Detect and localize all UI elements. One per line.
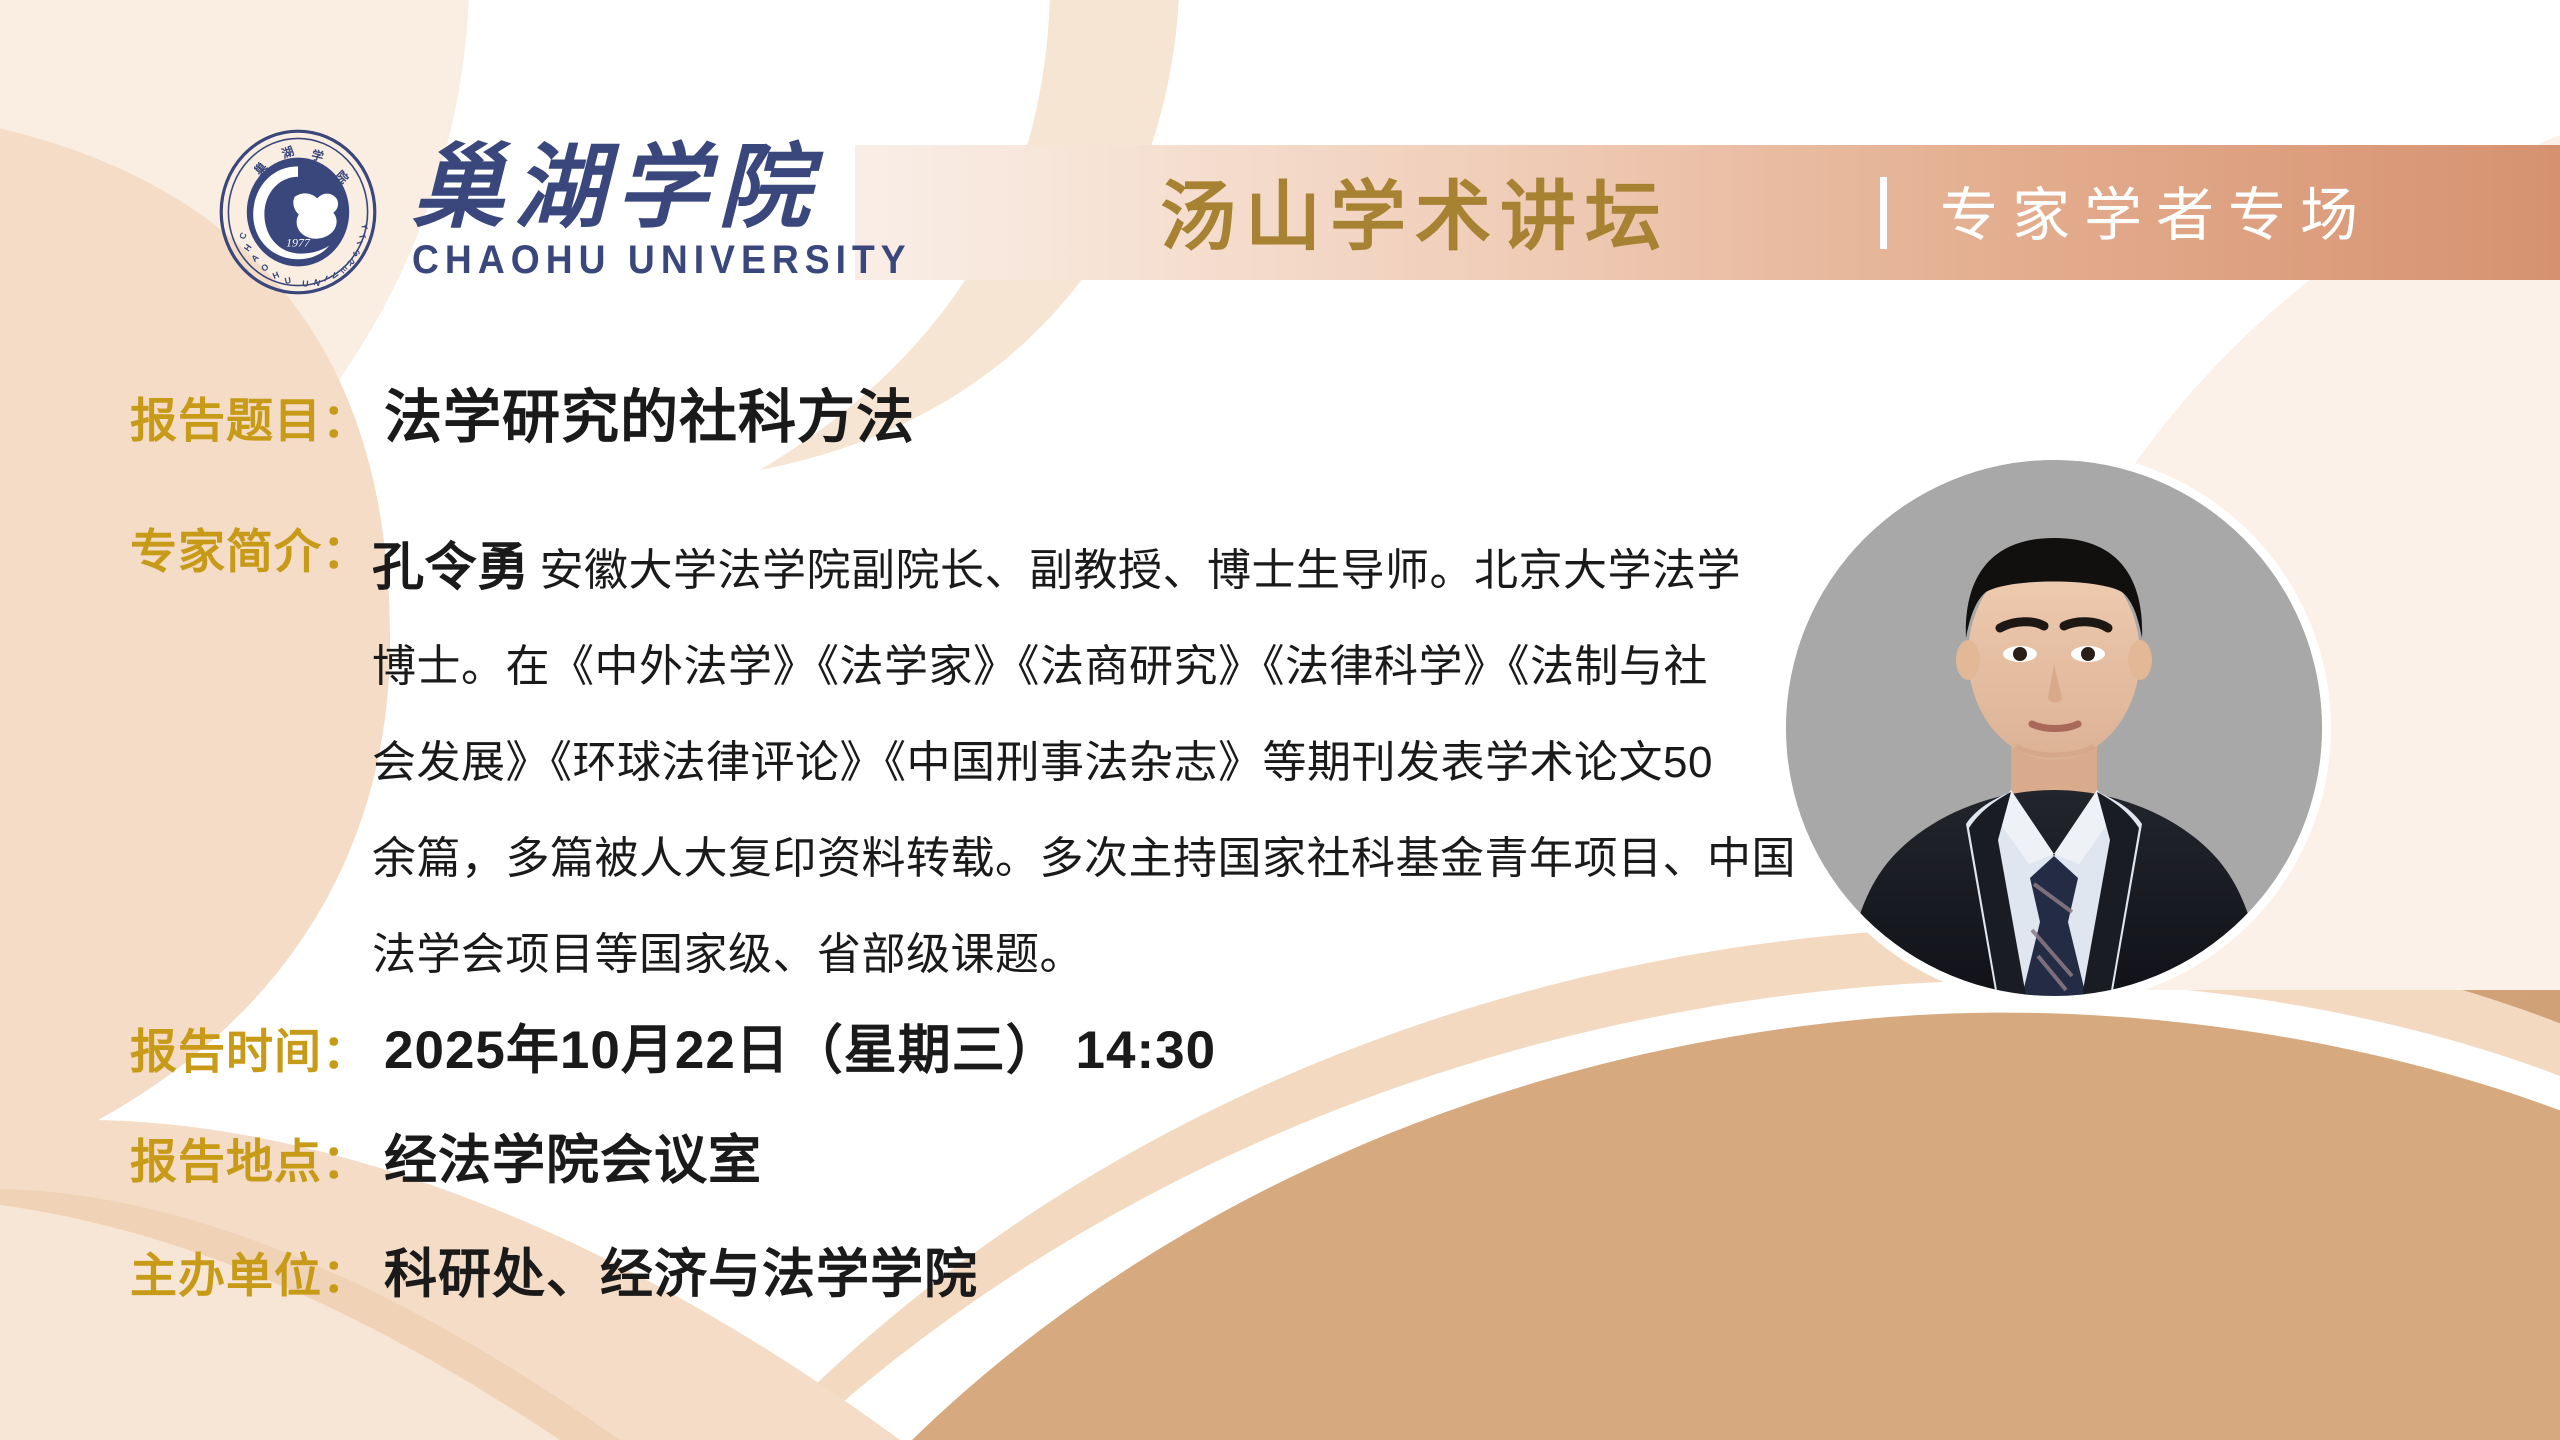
row-report-title: 报告题目： 法学研究的社科方法 [130, 370, 915, 454]
bio-line-2: 博士。在《中外法学》《法学家》《法商研究》《法律科学》《法制与社 [372, 619, 1772, 715]
row-speaker-bio-label: 专家简介： [130, 528, 370, 575]
row-host-organization: 主办单位： 科研处、经济与法学学院 [130, 1232, 978, 1308]
speaker-name: 孔令勇 [372, 539, 530, 597]
bio-line-1: 孔令勇安徽大学法学院副院长、副教授、博士生导师。北京大学法学 [372, 520, 1772, 619]
report-time-value: 2025年10月22日（星期三） 14:30 [384, 1008, 1216, 1084]
bio-line-5: 法学会项目等国家级、省部级课题。 [372, 907, 1772, 1003]
report-time-label: 报告时间： [130, 1013, 370, 1082]
bio-line-1-text: 安徽大学法学院副院长、副教授、博士生导师。北京大学法学 [540, 546, 1742, 595]
bio-line-4: 余篇，多篇被人大复印资料转载。多次主持国家社科基金青年项目、中国 [372, 811, 1772, 907]
bio-line-3: 会发展》《环球法律评论》《中国刑事法杂志》等期刊发表学术论文50 [372, 715, 1772, 811]
report-place-label: 报告地点： [130, 1123, 370, 1192]
report-title-value: 法学研究的社科方法 [384, 370, 915, 454]
report-title-label: 报告题目： [130, 382, 370, 451]
speaker-bio-label: 专家简介： [130, 528, 370, 575]
host-organization-label: 主办单位： [130, 1237, 370, 1306]
poster-canvas: 汤山学术讲坛 专家学者专场 1977 巢 湖 学 院 C [0, 0, 2560, 1440]
row-report-time: 报告时间： 2025年10月22日（星期三） 14:30 [130, 1008, 1216, 1084]
row-report-place: 报告地点： 经法学院会议室 [130, 1118, 762, 1194]
speaker-bio-text: 孔令勇安徽大学法学院副院长、副教授、博士生导师。北京大学法学 博士。在《中外法学… [372, 520, 1772, 1003]
host-organization-value: 科研处、经济与法学学院 [384, 1232, 978, 1308]
report-place-value: 经法学院会议室 [384, 1118, 762, 1194]
poster-content: 报告题目： 法学研究的社科方法 专家简介： 孔令勇安徽大学法学院副院长、副教授、… [0, 0, 2560, 1440]
